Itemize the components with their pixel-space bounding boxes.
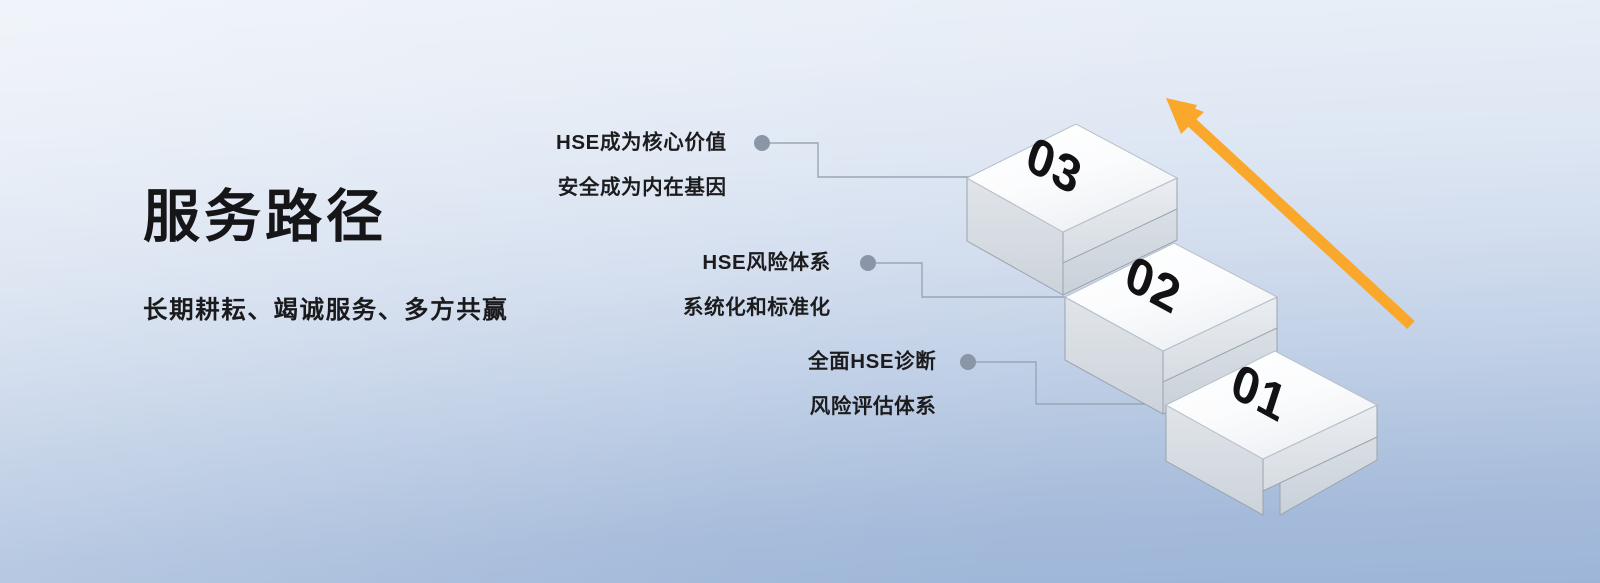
- callout-line-2: 系统化和标准化: [683, 298, 831, 319]
- slide-canvas: 服务路径 长期耕耘、竭诚服务、多方共赢 HSE成为核心价值 安全成为内在基因 H…: [0, 0, 1600, 583]
- callout-step-01: 全面HSE诊断 风险评估体系: [808, 352, 936, 417]
- callout-line-2: 安全成为内在基因: [556, 178, 727, 199]
- callout-line-2: 风险评估体系: [808, 397, 936, 418]
- callout-step-02: HSE风险体系 系统化和标准化: [683, 253, 831, 318]
- callout-line-1: 全面HSE诊断: [808, 352, 936, 373]
- callout-step-03: HSE成为核心价值 安全成为内在基因: [556, 133, 727, 198]
- callout-line-1: HSE成为核心价值: [556, 133, 727, 154]
- callout-line-1: HSE风险体系: [683, 253, 831, 274]
